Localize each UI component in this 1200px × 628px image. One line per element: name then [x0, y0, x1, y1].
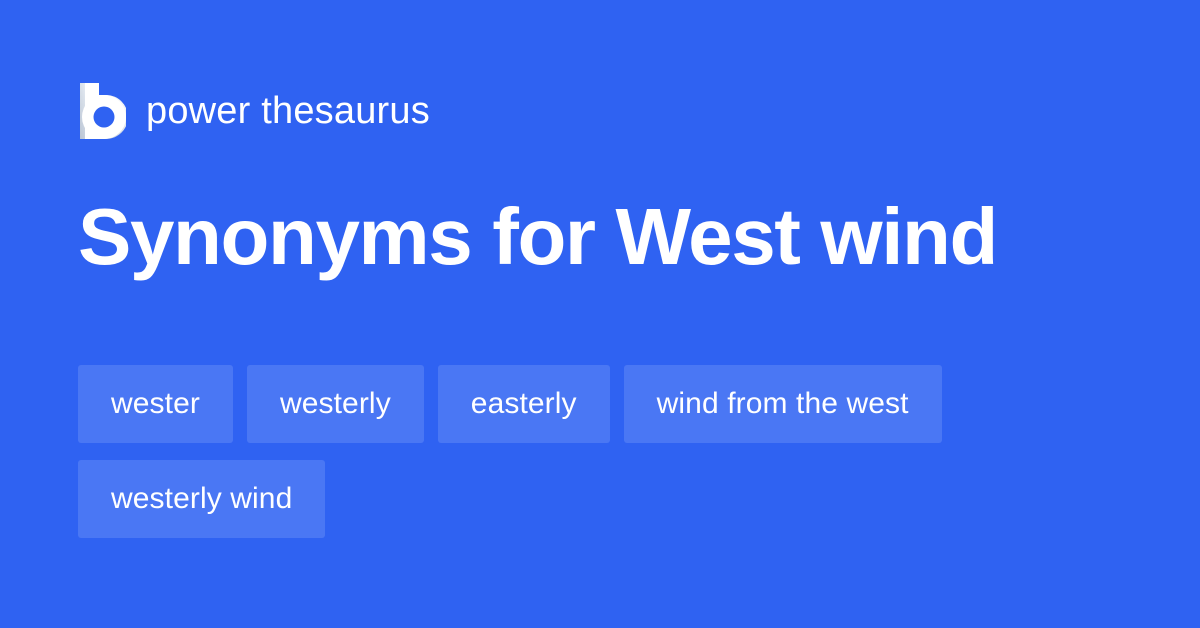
synonym-chip[interactable]: easterly	[438, 365, 610, 443]
page-title: Synonyms for West wind	[78, 196, 997, 278]
page-root: power thesaurus Synonyms for West wind w…	[0, 0, 1200, 628]
synonym-chip-list: wester westerly easterly wind from the w…	[78, 365, 1128, 538]
synonym-chip[interactable]: westerly wind	[78, 460, 325, 538]
power-thesaurus-b-logo-icon	[78, 83, 126, 139]
synonym-chip[interactable]: wind from the west	[624, 365, 942, 443]
brand-logo[interactable]: power thesaurus	[78, 82, 430, 140]
brand-name: power thesaurus	[146, 92, 430, 130]
synonym-chip[interactable]: westerly	[247, 365, 424, 443]
synonym-chip[interactable]: wester	[78, 365, 233, 443]
